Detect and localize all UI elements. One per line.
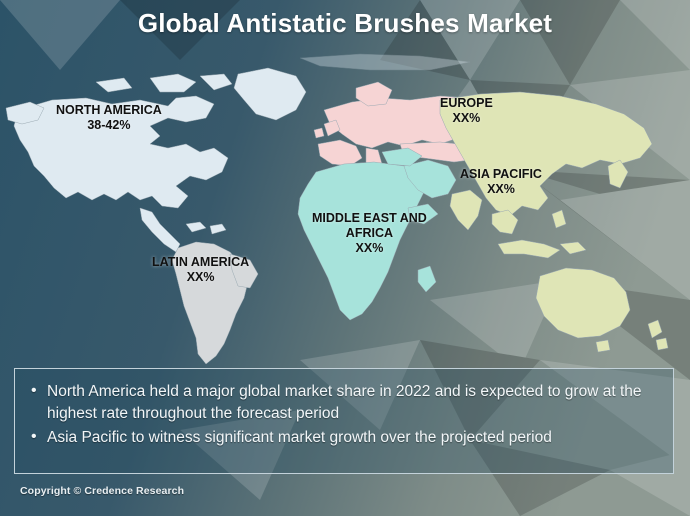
insights-callout: North America held a major global market… <box>14 368 674 474</box>
world-map <box>0 48 690 368</box>
region-name-asia-pacific: ASIA PACIFIC <box>460 167 542 182</box>
region-value-latin-america: XX% <box>152 270 249 285</box>
map-label-asia-pacific: ASIA PACIFIC XX% <box>460 167 542 197</box>
infographic-root: Global Antistatic Brushes Market <box>0 0 690 516</box>
list-item: Asia Pacific to witness significant mark… <box>47 427 663 449</box>
region-name-north-america: NORTH AMERICA <box>56 103 162 118</box>
region-value-middle-east-and-africa: XX% <box>312 241 427 256</box>
region-value-europe: XX% <box>440 111 493 126</box>
map-label-latin-america: LATIN AMERICA XX% <box>152 255 249 285</box>
list-item: North America held a major global market… <box>47 381 663 425</box>
insights-bullet-list: North America held a major global market… <box>21 381 663 449</box>
map-region-inactive-land <box>300 54 470 70</box>
region-value-north-america: 38-42% <box>56 118 162 133</box>
map-label-middle-east-and-africa: MIDDLE EAST AND AFRICA XX% <box>312 211 427 255</box>
map-region-north-america <box>6 68 306 252</box>
region-name-middle-east-and-africa-line1: MIDDLE EAST AND <box>312 211 427 226</box>
map-label-europe: EUROPE XX% <box>440 96 493 126</box>
map-label-north-america: NORTH AMERICA 38-42% <box>56 103 162 133</box>
region-name-middle-east-and-africa-line2: AFRICA <box>312 226 427 241</box>
region-name-latin-america: LATIN AMERICA <box>152 255 249 270</box>
map-region-asia-pacific <box>440 92 668 352</box>
region-value-asia-pacific: XX% <box>460 182 542 197</box>
page-title: Global Antistatic Brushes Market <box>0 8 690 39</box>
region-name-europe: EUROPE <box>440 96 493 111</box>
copyright-notice: Copyright © Credence Research <box>20 485 184 497</box>
